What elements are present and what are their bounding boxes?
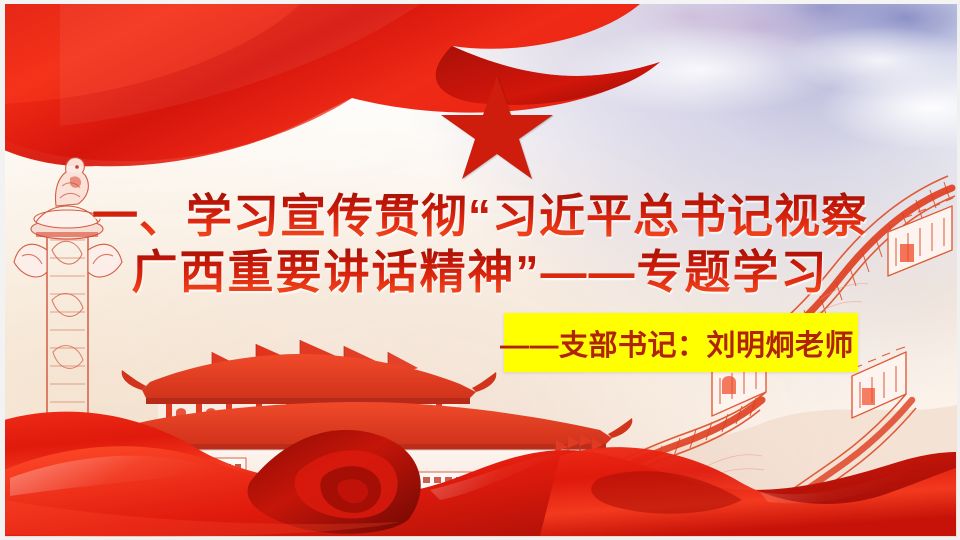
title-line-1: 一、学习宣传贯彻“习近平总书记视察	[0, 188, 960, 244]
subtitle-text: ——支部书记：刘明炯老师	[470, 313, 862, 372]
page-title: 一、学习宣传贯彻“习近平总书记视察 广西重要讲话精神”——专题学习	[0, 188, 960, 300]
title-line-2: 广西重要讲话精神”——专题学习	[0, 244, 960, 300]
presentation-slide: ——支部书记：刘明炯老师 一、学习宣传贯彻“习近平总书记视察 广西重要讲话精神”…	[0, 0, 960, 540]
